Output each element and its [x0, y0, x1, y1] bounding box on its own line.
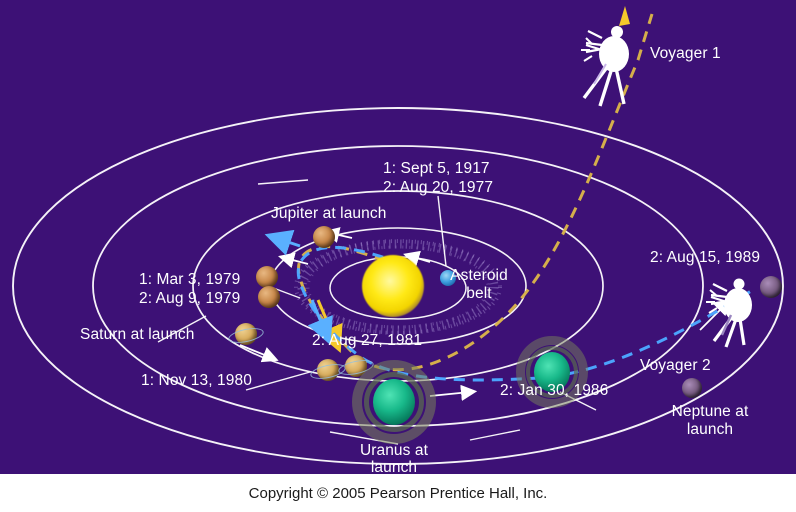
- uranus-at-launch-label-line2: launch: [354, 458, 434, 474]
- solar-system-diagram: Voyager 1 Voyager 2 1: Sept 5, 1917 2: A…: [0, 0, 796, 474]
- neptune-at-launch-label-line1: Neptune at: [660, 402, 760, 421]
- jupiter-encounter-date-2: 2: Aug 20, 1977: [383, 178, 493, 197]
- saturn-encounter-date-2: 2: Aug 9, 1979: [139, 289, 240, 308]
- saturn-at-launch-label: Saturn at launch: [80, 325, 194, 344]
- saturn-nov-1980-date: 1: Nov 13, 1980: [141, 371, 252, 390]
- neptune-voyager2: [760, 276, 782, 298]
- saturn-aug-1981-date: 2: Aug 27, 1981: [312, 331, 422, 350]
- uranus-encounter-date: 2: Jan 30, 1986: [500, 381, 608, 400]
- sun: [362, 255, 424, 317]
- jupiter-at-launch: [256, 266, 278, 288]
- copyright-notice: Copyright © 2005 Pearson Prentice Hall, …: [0, 474, 796, 512]
- neptune-at-launch: [682, 378, 702, 398]
- asteroid-belt-label-line1: Asteroid: [444, 266, 514, 285]
- jupiter-encounter-date-1: 1: Sept 5, 1917: [383, 159, 490, 178]
- jupiter-voyager1: [313, 226, 335, 248]
- voyager-2-label: Voyager 2: [640, 356, 711, 375]
- voyager-1-spacecraft: [581, 6, 630, 106]
- voyager-1-label: Voyager 1: [650, 44, 721, 63]
- neptune-at-launch-label-line2: launch: [660, 420, 760, 439]
- jupiter-voyager2: [258, 286, 280, 308]
- jupiter-at-launch-label: Jupiter at launch: [271, 204, 386, 223]
- saturn-encounter-date-1: 1: Mar 3, 1979: [139, 270, 240, 289]
- uranus-at-launch: [352, 360, 436, 444]
- neptune-encounter-date: 2: Aug 15, 1989: [650, 248, 760, 267]
- saturn-at-launch: [228, 320, 262, 350]
- figure-root: Voyager 1 Voyager 2 1: Sept 5, 1917 2: A…: [0, 0, 796, 512]
- asteroid-belt-label-line2: belt: [444, 284, 514, 303]
